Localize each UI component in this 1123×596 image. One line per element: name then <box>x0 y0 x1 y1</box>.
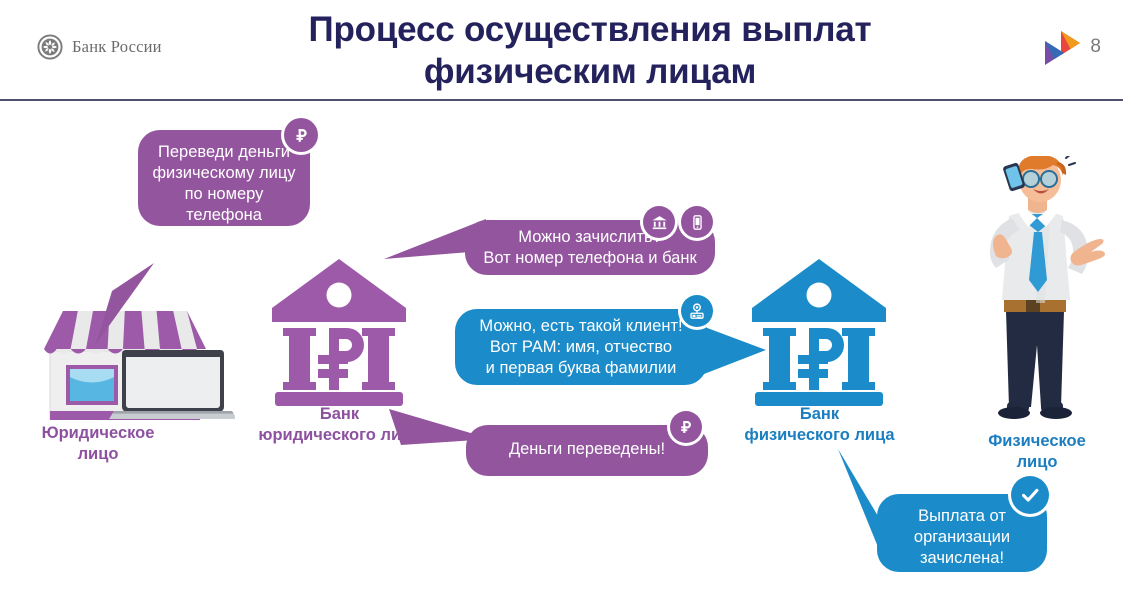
bubble-tail-client-confirmed <box>700 320 770 376</box>
actor-label-legal-entity: Юридическое лицо <box>8 423 188 465</box>
page-title: Процесс осуществления выплат физическим … <box>205 9 975 93</box>
cbr-emblem-icon <box>37 34 63 60</box>
man-on-phone-icon <box>962 156 1112 421</box>
speech-bubble-client-confirmed-text: Можно, есть такой клиент! Вот РАМ: имя, … <box>479 317 682 377</box>
bubble-tail-money-transferred <box>385 401 495 456</box>
actor-label-individual: Физическое лицо <box>952 431 1122 473</box>
page-badge: 8 <box>1042 27 1101 67</box>
actor-label-individual-bank: Банк физического лица <box>727 404 912 446</box>
bubble-tail-transfer-request <box>92 261 162 346</box>
speech-bubble-transfer-request: Переведи деньги физическому лицу по номе… <box>138 130 310 226</box>
speech-bubble-payment-credited-text: Выплата от организации зачислена! <box>914 507 1010 567</box>
speech-bubble-can-credit-question: Можно зачислить? Вот номер телефона и ба… <box>465 220 715 275</box>
page-number: 8 <box>1090 36 1101 58</box>
bubble-tail-payment-credited <box>834 443 914 558</box>
multicolor-triangles-icon <box>1042 27 1082 67</box>
ruble-icon <box>284 118 318 152</box>
speech-bubble-client-confirmed: Можно, есть такой клиент! Вот РАМ: имя, … <box>455 309 707 385</box>
ruble-icon <box>670 411 702 443</box>
person-id-icon <box>681 295 713 327</box>
check-mark-icon <box>1011 476 1049 514</box>
speech-bubble-money-transferred: Деньги переведены! <box>466 425 708 476</box>
bank-building-ruble-icon-purple <box>268 251 410 399</box>
speech-bubble-money-transferred-text: Деньги переведены! <box>509 440 665 458</box>
speech-bubble-transfer-request-text: Переведи деньги физическому лицу по номе… <box>152 143 295 245</box>
bank-icon <box>643 206 675 238</box>
page-title-line-1: Процесс осуществления выплат <box>205 9 975 51</box>
slide: Банк России Процесс осуществления выплат… <box>0 0 1123 596</box>
page-title-line-2: физическим лицам <box>205 51 975 93</box>
bubble-tail-can-credit <box>382 211 492 271</box>
diagram-canvas: Юридическое лицо <box>0 101 1123 596</box>
bank-of-russia-logo: Банк России <box>37 34 162 60</box>
slide-header: Банк России Процесс осуществления выплат… <box>0 0 1123 100</box>
mobile-phone-icon <box>681 206 713 238</box>
bank-of-russia-label: Банк России <box>72 37 162 57</box>
